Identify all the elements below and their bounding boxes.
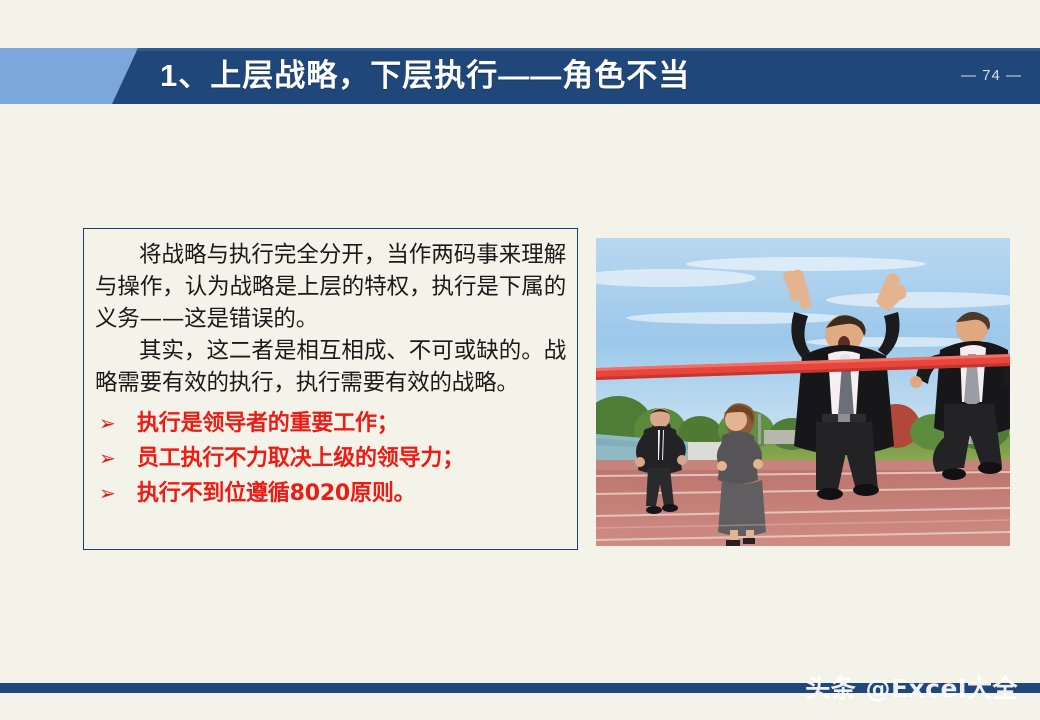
list-item: ➢ 执行是领导者的重要工作； [95,409,566,439]
finish-line-photo [596,238,1010,546]
page-title: 1、上层战略，下层执行——角色不当 [160,48,690,104]
paragraph-1: 将战略与执行完全分开，当作两码事来理解与操作，认为战略是上层的特权，执行是下属的… [95,239,566,335]
arrow-bullet-icon: ➢ [95,409,137,439]
list-item: ➢ 员工执行不力取决上级的领导力； [95,444,566,474]
watermark-text: 头条 @Excel大全 [805,669,1018,705]
list-item: ➢ 执行不到位遵循8020原则。 [95,479,566,509]
slide-root: 1、上层战略，下层执行——角色不当 — 74 — 将战略与执行完全分开，当作两码… [0,0,1040,720]
bullet-label: 员工执行不力取决上级的领导力； [137,444,464,474]
paragraph-2: 其实，这二者是相互相成、不可或缺的。战略需要有效的执行，执行需要有效的战略。 [95,335,566,399]
photo-illustration [596,238,1010,546]
bullet-label: 执行是领导者的重要工作； [137,409,399,439]
bullet-label: 执行不到位遵循8020原则。 [137,479,415,509]
bullet-list: ➢ 执行是领导者的重要工作； ➢ 员工执行不力取决上级的领导力； ➢ 执行不到位… [95,409,566,509]
page-number: — 74 — [961,48,1022,104]
arrow-bullet-icon: ➢ [95,444,137,474]
arrow-bullet-icon: ➢ [95,479,137,509]
content-text-box: 将战略与执行完全分开，当作两码事来理解与操作，认为战略是上层的特权，执行是下属的… [83,228,578,550]
